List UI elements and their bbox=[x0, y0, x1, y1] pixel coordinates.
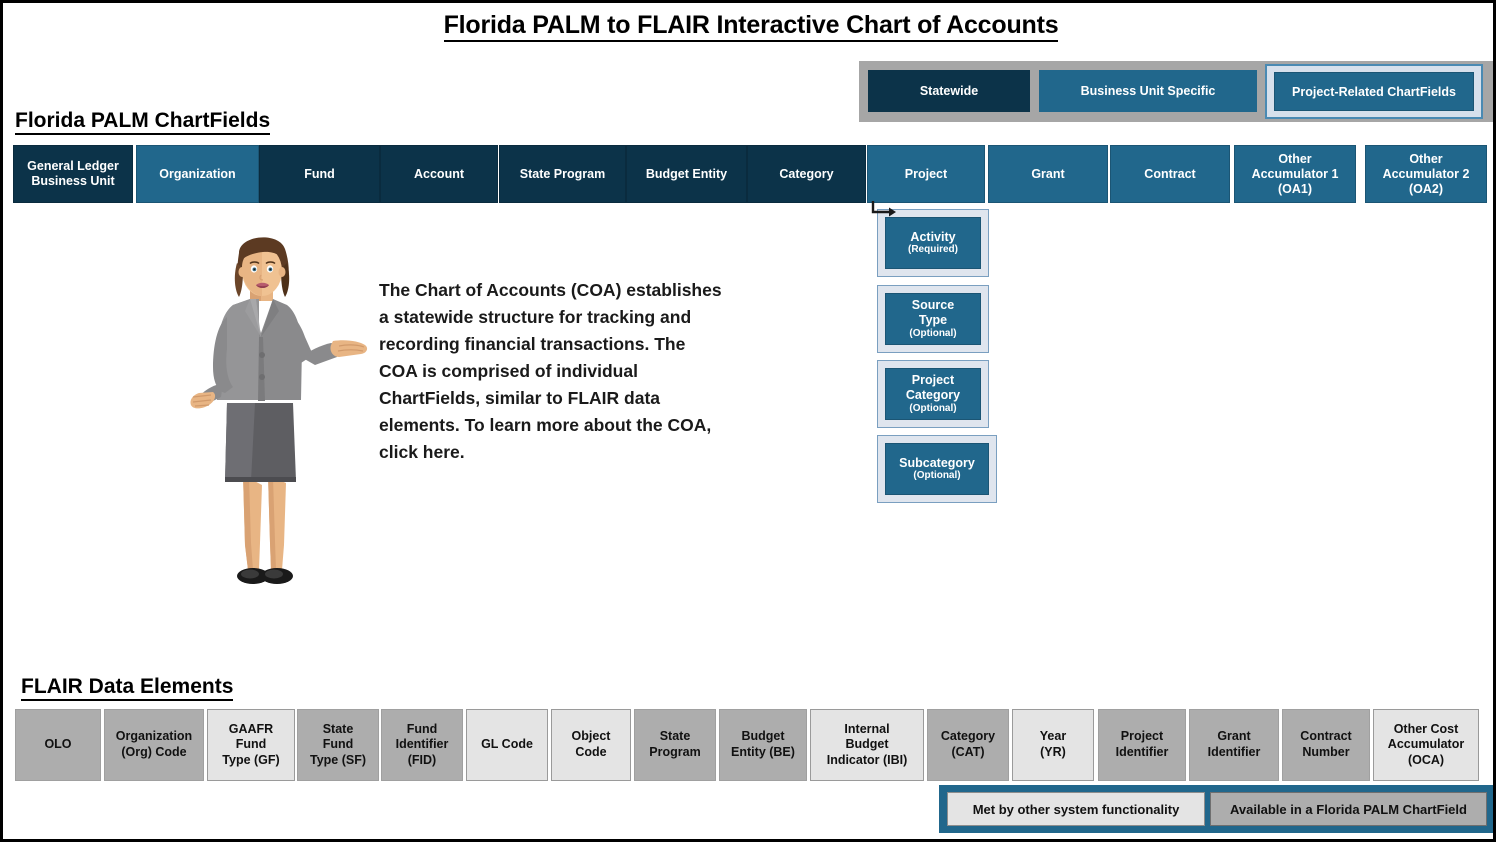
chartfield-label: OtherAccumulator 1(OA1) bbox=[1252, 152, 1339, 197]
chartfield-category[interactable]: Category bbox=[747, 145, 866, 203]
flair-element-state-program[interactable]: StateProgram bbox=[634, 709, 716, 781]
project-chartfield-title: SourceType bbox=[912, 298, 954, 328]
flair-element-object-code[interactable]: ObjectCode bbox=[551, 709, 631, 781]
flair-element-label: Category(CAT) bbox=[941, 729, 995, 760]
project-chartfield-inner: SourceType(Optional) bbox=[885, 293, 981, 345]
chartfield-state-program[interactable]: State Program bbox=[499, 145, 626, 203]
chartfield-contract[interactable]: Contract bbox=[1110, 145, 1230, 203]
chartfield-label: Organization bbox=[159, 167, 235, 182]
chart-of-accounts-page: Florida PALM to FLAIR Interactive Chart … bbox=[0, 0, 1496, 842]
legend-button-project-related-label: Project-Related ChartFields bbox=[1274, 72, 1474, 111]
flair-element-gl-code[interactable]: GL Code bbox=[466, 709, 548, 781]
flair-element-fund-identifier-fid[interactable]: FundIdentifier(FID) bbox=[381, 709, 463, 781]
flair-element-organization-org-code[interactable]: Organization(Org) Code bbox=[104, 709, 204, 781]
flair-element-internal-budget-indicator-ibi[interactable]: InternalBudgetIndicator (IBI) bbox=[810, 709, 924, 781]
flair-element-state-fund-type-sf[interactable]: StateFundType (SF) bbox=[297, 709, 379, 781]
project-chartfield-requirement: (Optional) bbox=[909, 403, 956, 415]
flair-element-label: FundIdentifier(FID) bbox=[396, 722, 449, 769]
chartfield-label: General LedgerBusiness Unit bbox=[27, 159, 119, 189]
flair-element-label: BudgetEntity (BE) bbox=[731, 729, 795, 760]
businesswoman-illustration bbox=[155, 225, 373, 597]
project-to-activity-arrow-icon bbox=[871, 201, 897, 219]
flair-status-legend: Met by other system functionality Availa… bbox=[939, 785, 1495, 833]
project-chartfield-requirement: (Optional) bbox=[909, 328, 956, 340]
project-chartfield-requirement: (Optional) bbox=[913, 470, 960, 482]
flair-element-label: Year(YR) bbox=[1040, 729, 1066, 760]
flair-element-label: ContractNumber bbox=[1300, 729, 1351, 760]
chartfield-label: Grant bbox=[1031, 167, 1064, 182]
project-chartfield-title: ProjectCategory bbox=[906, 373, 960, 403]
flair-data-element-row: OLOOrganization(Org) CodeGAAFRFundType (… bbox=[3, 709, 1496, 781]
page-title: Florida PALM to FLAIR Interactive Chart … bbox=[3, 11, 1496, 40]
chartfield-label: Budget Entity bbox=[646, 167, 727, 182]
chartfield-other-accumulator-2-oa2[interactable]: OtherAccumulator 2(OA2) bbox=[1365, 145, 1487, 203]
legend-button-met-by-other-system-functionality[interactable]: Met by other system functionality bbox=[947, 792, 1205, 826]
project-chartfield-subcategory[interactable]: Subcategory(Optional) bbox=[877, 435, 997, 503]
flair-element-label: Other CostAccumulator(OCA) bbox=[1388, 722, 1464, 769]
legend-button-available-in-florida-palm-chartfield[interactable]: Available in a Florida PALM ChartField bbox=[1210, 792, 1487, 826]
chartfield-label: OtherAccumulator 2(OA2) bbox=[1383, 152, 1470, 197]
chartfield-other-accumulator-1-oa1[interactable]: OtherAccumulator 1(OA1) bbox=[1234, 145, 1356, 203]
flair-element-category-cat[interactable]: Category(CAT) bbox=[927, 709, 1009, 781]
project-chartfield-activity[interactable]: Activity(Required) bbox=[877, 209, 989, 277]
flair-element-label: InternalBudgetIndicator (IBI) bbox=[827, 722, 908, 769]
project-chartfield-project-category[interactable]: ProjectCategory(Optional) bbox=[877, 360, 989, 428]
project-chartfield-inner: Subcategory(Optional) bbox=[885, 443, 989, 495]
project-chartfield-source-type[interactable]: SourceType(Optional) bbox=[877, 285, 989, 353]
flair-element-project-identifier[interactable]: ProjectIdentifier bbox=[1098, 709, 1186, 781]
flair-element-label: OLO bbox=[44, 737, 71, 753]
flair-element-label: ObjectCode bbox=[572, 729, 611, 760]
chartfield-label: Account bbox=[414, 167, 464, 182]
palm-chartfields-heading-text: Florida PALM ChartFields bbox=[15, 109, 270, 135]
chartfield-account[interactable]: Account bbox=[380, 145, 498, 203]
flair-element-olo[interactable]: OLO bbox=[15, 709, 101, 781]
page-title-text: Florida PALM to FLAIR Interactive Chart … bbox=[444, 11, 1059, 42]
flair-element-gaafr-fund-type-gf[interactable]: GAAFRFundType (GF) bbox=[207, 709, 295, 781]
project-chartfield-inner: Activity(Required) bbox=[885, 217, 981, 269]
flair-data-elements-heading-text: FLAIR Data Elements bbox=[21, 675, 233, 701]
flair-element-label: GAAFRFundType (GF) bbox=[222, 722, 279, 769]
project-chartfield-requirement: (Required) bbox=[908, 244, 958, 256]
flair-data-elements-heading: FLAIR Data Elements bbox=[21, 675, 233, 699]
flair-element-contract-number[interactable]: ContractNumber bbox=[1282, 709, 1370, 781]
legend-button-statewide[interactable]: Statewide bbox=[868, 70, 1030, 112]
palm-chartfields-heading: Florida PALM ChartFields bbox=[15, 109, 270, 133]
legend-button-project-related-chartfields[interactable]: Project-Related ChartFields bbox=[1265, 64, 1483, 119]
flair-element-grant-identifier[interactable]: GrantIdentifier bbox=[1189, 709, 1279, 781]
palm-chartfield-row: General LedgerBusiness UnitOrganizationF… bbox=[3, 145, 1496, 203]
flair-element-label: StateProgram bbox=[649, 729, 700, 760]
chartfield-label: Fund bbox=[304, 167, 335, 182]
legend-button-business-unit-specific[interactable]: Business Unit Specific bbox=[1039, 70, 1257, 112]
chartfield-label: State Program bbox=[520, 167, 605, 182]
chartfield-label: Project bbox=[905, 167, 947, 182]
flair-element-label: StateFundType (SF) bbox=[310, 722, 366, 769]
chartfield-budget-entity[interactable]: Budget Entity bbox=[626, 145, 747, 203]
flair-element-label: GrantIdentifier bbox=[1208, 729, 1261, 760]
flair-element-label: GL Code bbox=[481, 737, 533, 753]
chartfield-label: Contract bbox=[1144, 167, 1195, 182]
project-chartfield-title: Subcategory bbox=[899, 456, 975, 471]
chartfield-grant[interactable]: Grant bbox=[988, 145, 1108, 203]
chartfield-type-legend: Statewide Business Unit Specific Project… bbox=[859, 61, 1493, 122]
flair-element-label: Organization(Org) Code bbox=[116, 729, 192, 760]
project-chartfield-inner: ProjectCategory(Optional) bbox=[885, 368, 981, 420]
flair-element-other-cost-accumulator-oca[interactable]: Other CostAccumulator(OCA) bbox=[1373, 709, 1479, 781]
project-chartfield-title: Activity bbox=[910, 230, 955, 245]
flair-element-year-yr[interactable]: Year(YR) bbox=[1012, 709, 1094, 781]
chartfield-general-ledger-business-unit[interactable]: General LedgerBusiness Unit bbox=[13, 145, 133, 203]
flair-element-label: ProjectIdentifier bbox=[1116, 729, 1169, 760]
chartfield-project[interactable]: Project bbox=[867, 145, 985, 203]
chartfield-label: Category bbox=[779, 167, 833, 182]
coa-description-text: The Chart of Accounts (COA) establishes … bbox=[379, 277, 724, 466]
chartfield-organization[interactable]: Organization bbox=[136, 145, 259, 203]
chartfield-fund[interactable]: Fund bbox=[259, 145, 380, 203]
flair-element-budget-entity-be[interactable]: BudgetEntity (BE) bbox=[719, 709, 807, 781]
